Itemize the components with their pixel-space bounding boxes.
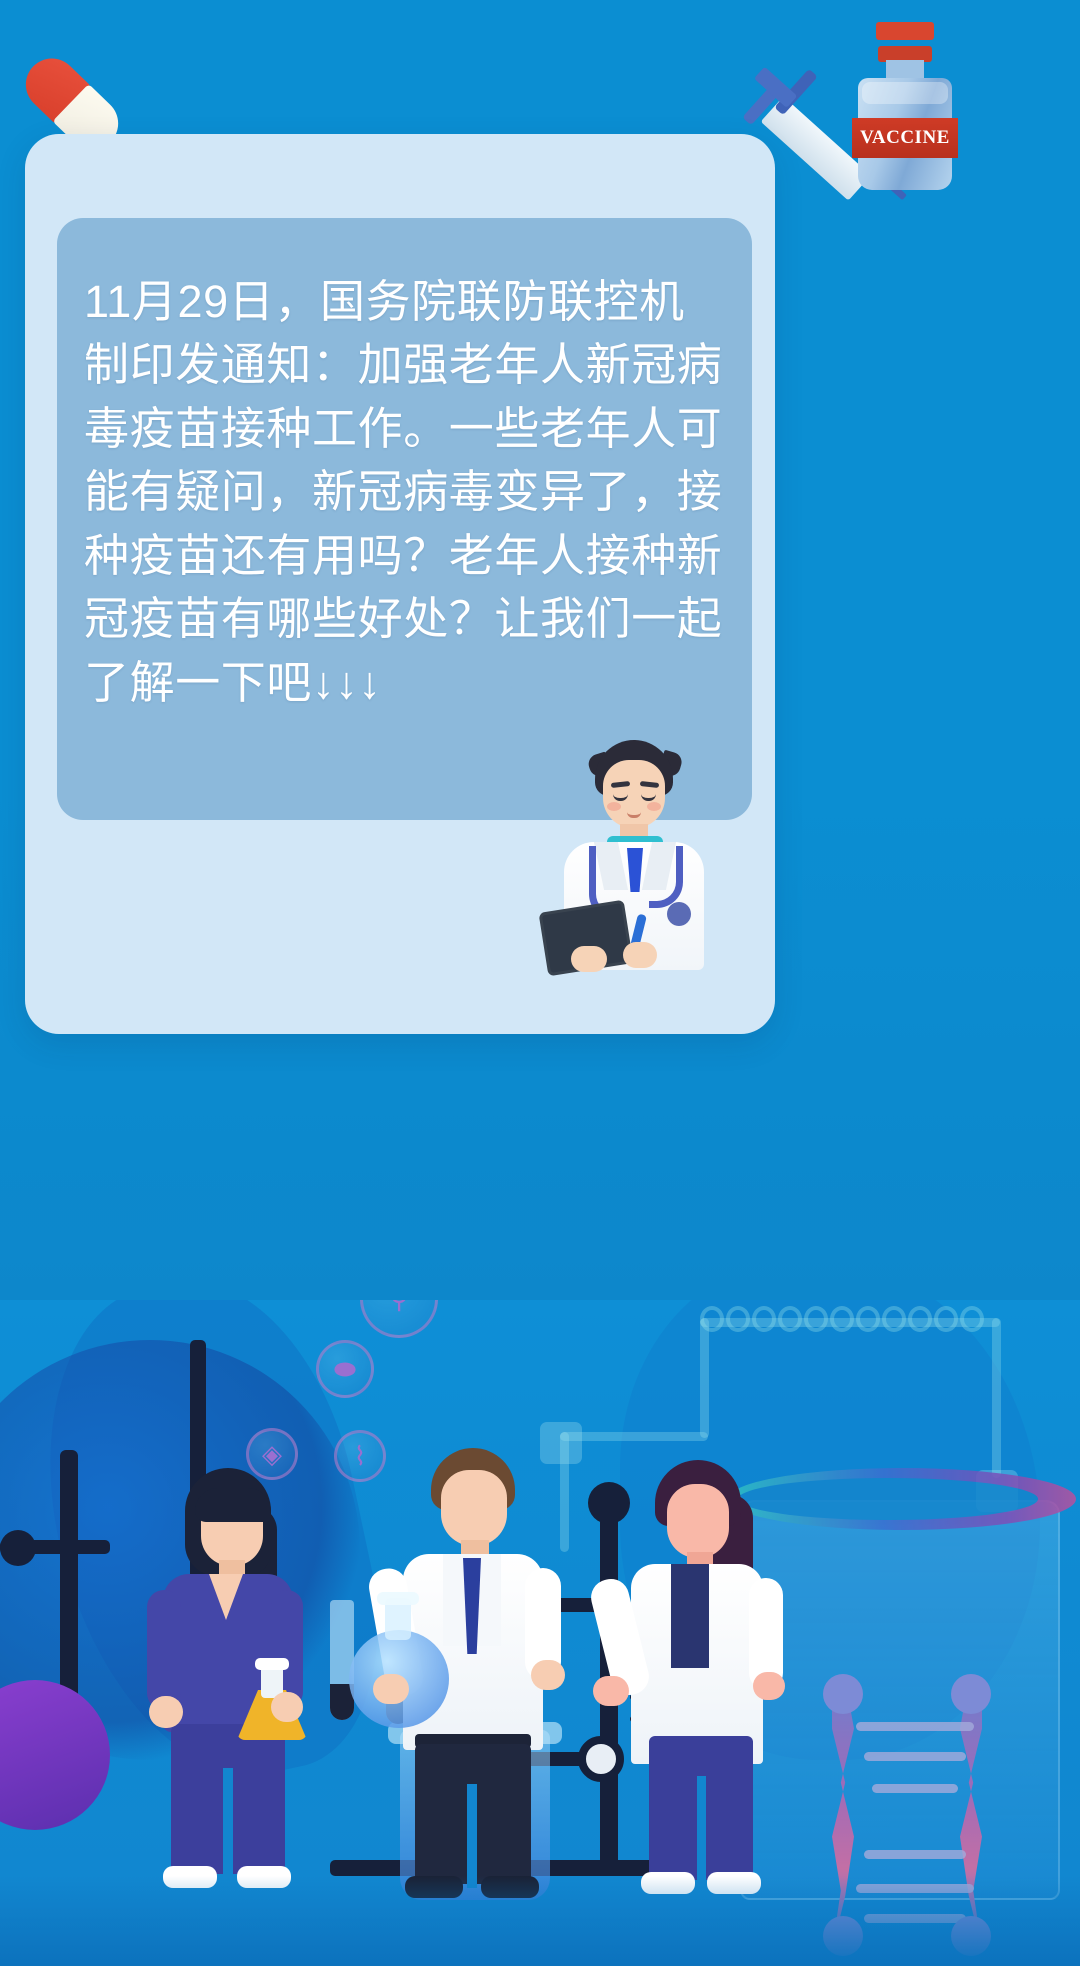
nurse-arm-left [147, 1590, 181, 1710]
rack-knob-left [0, 1530, 36, 1566]
vial-label: VACCINE [852, 118, 958, 158]
doctor-hand-left [571, 946, 607, 972]
male-scientist-figure [385, 1448, 560, 1898]
dna-rung [864, 1850, 966, 1859]
dna-rung [864, 1752, 966, 1761]
thermometer-bubble: ⌇ [334, 1430, 386, 1482]
vial-highlight [862, 82, 948, 104]
doctor-with-clipboard-icon [537, 738, 722, 968]
pipe-vertical-right [992, 1318, 1001, 1478]
dna-rung [856, 1722, 974, 1731]
female-scientist-leg-gap [697, 1776, 706, 1884]
pipe-horizontal-top [700, 1318, 1000, 1327]
dna-node [951, 1674, 991, 1714]
nurse-leg-gap [223, 1768, 233, 1878]
vaccine-vial-icon: VACCINE [838, 22, 968, 190]
pills-icon: ⬬ [334, 1356, 356, 1382]
doctor-hand-right [623, 942, 657, 968]
shield-virus-icon: ◈ [262, 1441, 282, 1467]
female-scientist-figure [615, 1460, 785, 1900]
scientist-hand-left [373, 1674, 409, 1704]
thermometer-icon: ⌇ [354, 1443, 367, 1469]
scientist-face [441, 1470, 507, 1546]
pills-bubble: ⬬ [316, 1340, 374, 1398]
doctor-cheek-left [607, 802, 621, 811]
text-panel: 11月29日，国务院联防联控机制印发通知：加强老年人新冠病毒疫苗接种工作。一些老… [57, 218, 752, 820]
round-flask-icon [345, 1598, 455, 1728]
nurse-bangs [195, 1488, 271, 1522]
nurse-hand-left [149, 1696, 183, 1728]
female-scientist-face [667, 1484, 729, 1558]
vial-label-text: VACCINE [860, 127, 950, 149]
round-flask-rim [377, 1592, 419, 1605]
scientist-leg-gap [467, 1784, 477, 1888]
female-scientist-hand-right [753, 1672, 785, 1700]
female-scientist-inner-top [671, 1564, 709, 1668]
poster-body-text: 11月29日，国务院联防联控机制印发通知：加强老年人新冠病毒疫苗接种工作。一些老… [84, 270, 730, 714]
female-scientist-hand-left [593, 1676, 629, 1706]
syringe-bubble: ⚲ [360, 1300, 438, 1338]
stethoscope-bell [667, 902, 691, 926]
pipe-vertical-mid [700, 1318, 709, 1438]
dna-node [823, 1674, 863, 1714]
nurse-figure [145, 1468, 305, 1888]
doctor-cheek-right [647, 802, 661, 811]
syringe-small-icon: ⚲ [389, 1300, 408, 1312]
dna-rung [872, 1784, 958, 1793]
flask-rim [255, 1658, 289, 1670]
nurse-hand-right [271, 1692, 303, 1722]
scientist-hand-right [531, 1660, 565, 1690]
laboratory-scene: ⬬ ◈ ⌇ ⚲ [0, 1300, 1080, 1966]
vial-cap-top [876, 22, 934, 40]
poster-root: VACCINE 11月29日，国务院联防联控机制印发通知：加强老年人新冠病毒疫苗… [0, 0, 1080, 1966]
lab-floor [0, 1876, 1080, 1966]
pipe-horizontal-mid [560, 1432, 708, 1441]
